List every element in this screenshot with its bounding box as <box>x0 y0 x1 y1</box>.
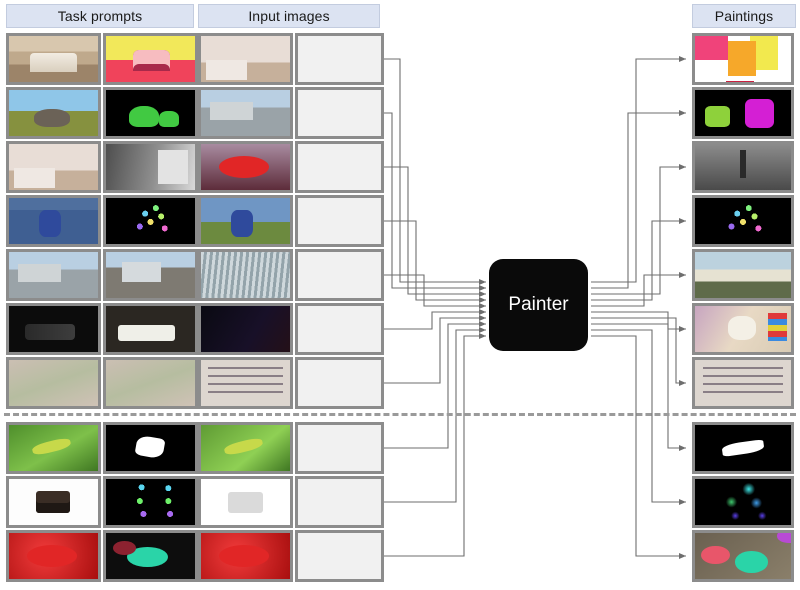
bedroom-photo <box>9 36 98 82</box>
noisy-pier-photo <box>201 252 290 298</box>
baseball-person-mask <box>695 90 791 136</box>
clean-city-photo <box>106 252 195 298</box>
input-image-row-5 <box>198 249 293 301</box>
output-slot-row-5 <box>295 249 384 301</box>
prompt-target-row-9 <box>103 476 198 528</box>
room-depth-map <box>106 144 195 190</box>
prompt-source-row-1 <box>6 33 101 85</box>
prompt-target-row-6 <box>103 303 198 355</box>
grasshopper-white-mask-out <box>695 425 791 471</box>
white-armchair-photo <box>201 479 290 525</box>
sheep-photo <box>9 90 98 136</box>
output-slot-row-2 <box>295 87 384 139</box>
input-image-row-8 <box>198 422 293 474</box>
painting-row-2 <box>692 87 794 139</box>
column-header-input-images: Input images <box>198 4 380 28</box>
input-image-row-7 <box>198 357 293 409</box>
painting-row-5 <box>692 249 794 301</box>
red-blood-cells-photo-2 <box>201 533 290 579</box>
bright-dish-rack-photo <box>106 306 195 352</box>
column-header-paintings: Paintings <box>692 4 796 28</box>
blood-cells-blob-mask <box>695 533 791 579</box>
prompt-target-row-3 <box>103 141 198 193</box>
input-image-row-1 <box>198 33 293 85</box>
four-poster-bed-photo <box>201 144 290 190</box>
prompt-source-row-9 <box>6 476 101 528</box>
prompt-source-row-2 <box>6 87 101 139</box>
column-header-task-prompts: Task prompts <box>6 4 194 28</box>
rainy-text-page <box>201 360 290 406</box>
prompt-source-row-3 <box>6 141 101 193</box>
input-image-row-4 <box>198 195 293 247</box>
prompt-target-row-10 <box>103 530 198 582</box>
prompt-target-row-7 <box>103 357 198 409</box>
input-image-row-3 <box>198 141 293 193</box>
tennis-player-photo <box>9 198 98 244</box>
prompt-target-row-1 <box>103 33 198 85</box>
input-image-row-6 <box>198 303 293 355</box>
wooden-chair-photo <box>9 479 98 525</box>
painting-row-10 <box>692 530 794 582</box>
output-slot-row-3 <box>295 141 384 193</box>
output-slot-row-6 <box>295 303 384 355</box>
tennis-keypoints <box>106 198 195 244</box>
prompt-target-row-5 <box>103 249 198 301</box>
painting-row-4 <box>692 195 794 247</box>
prompt-source-row-5 <box>6 249 101 301</box>
green-grasshopper-photo <box>201 425 290 471</box>
grasshopper-photo <box>9 425 98 471</box>
painting-row-8 <box>692 422 794 474</box>
blurred-ground-photo-clean <box>106 360 195 406</box>
output-slot-row-4 <box>295 195 384 247</box>
clean-text-page <box>695 360 791 406</box>
red-blood-cells-photo <box>9 533 98 579</box>
painting-row-6 <box>692 303 794 355</box>
blurred-ground-photo <box>9 360 98 406</box>
prompt-source-row-6 <box>6 303 101 355</box>
chair-keypoints <box>106 479 195 525</box>
seen-unseen-task-divider <box>4 413 796 416</box>
output-slot-row-7 <box>295 357 384 409</box>
output-slot-row-10 <box>295 530 384 582</box>
kitchen-semantic-mask <box>695 36 791 82</box>
output-slot-row-1 <box>295 33 384 85</box>
color-checker-chart <box>768 313 787 341</box>
person-keypoints <box>695 198 791 244</box>
dark-toys-photo <box>201 306 290 352</box>
baseball-batter-photo <box>201 90 290 136</box>
prompt-source-row-10 <box>6 530 101 582</box>
input-image-row-10 <box>198 530 293 582</box>
figure-canvas: Task prompts Input images Paintings <box>0 0 800 590</box>
painter-model-label: Painter <box>508 294 568 316</box>
hotel-room-photo <box>9 144 98 190</box>
dark-dish-rack-photo <box>9 306 98 352</box>
prompt-source-row-8 <box>6 422 101 474</box>
output-slot-row-9 <box>295 476 384 528</box>
output-slot-row-8 <box>295 422 384 474</box>
painting-row-1 <box>692 33 794 85</box>
clean-pier-photo <box>695 252 791 298</box>
prompt-source-row-4 <box>6 195 101 247</box>
bedroom-depth-map <box>695 144 791 190</box>
painting-row-9 <box>692 476 794 528</box>
painting-row-3 <box>692 141 794 193</box>
input-image-row-9 <box>198 476 293 528</box>
sheep-green-mask <box>106 90 195 136</box>
prompt-source-row-7 <box>6 357 101 409</box>
person-on-hill-photo <box>201 198 290 244</box>
grasshopper-white-mask <box>106 425 195 471</box>
kitchen-photo <box>201 36 290 82</box>
prompt-target-row-2 <box>103 87 198 139</box>
blood-cells-instance-mask <box>106 533 195 579</box>
input-image-row-2 <box>198 87 293 139</box>
bedroom-semantic-mask <box>106 36 195 82</box>
prompt-target-row-8 <box>103 422 198 474</box>
noisy-city-photo <box>9 252 98 298</box>
prompt-target-row-4 <box>103 195 198 247</box>
painter-model-box: Painter <box>489 259 588 351</box>
painting-row-7 <box>692 357 794 409</box>
bright-toys-photo <box>695 306 791 352</box>
armchair-keypoints-glow <box>695 479 791 525</box>
